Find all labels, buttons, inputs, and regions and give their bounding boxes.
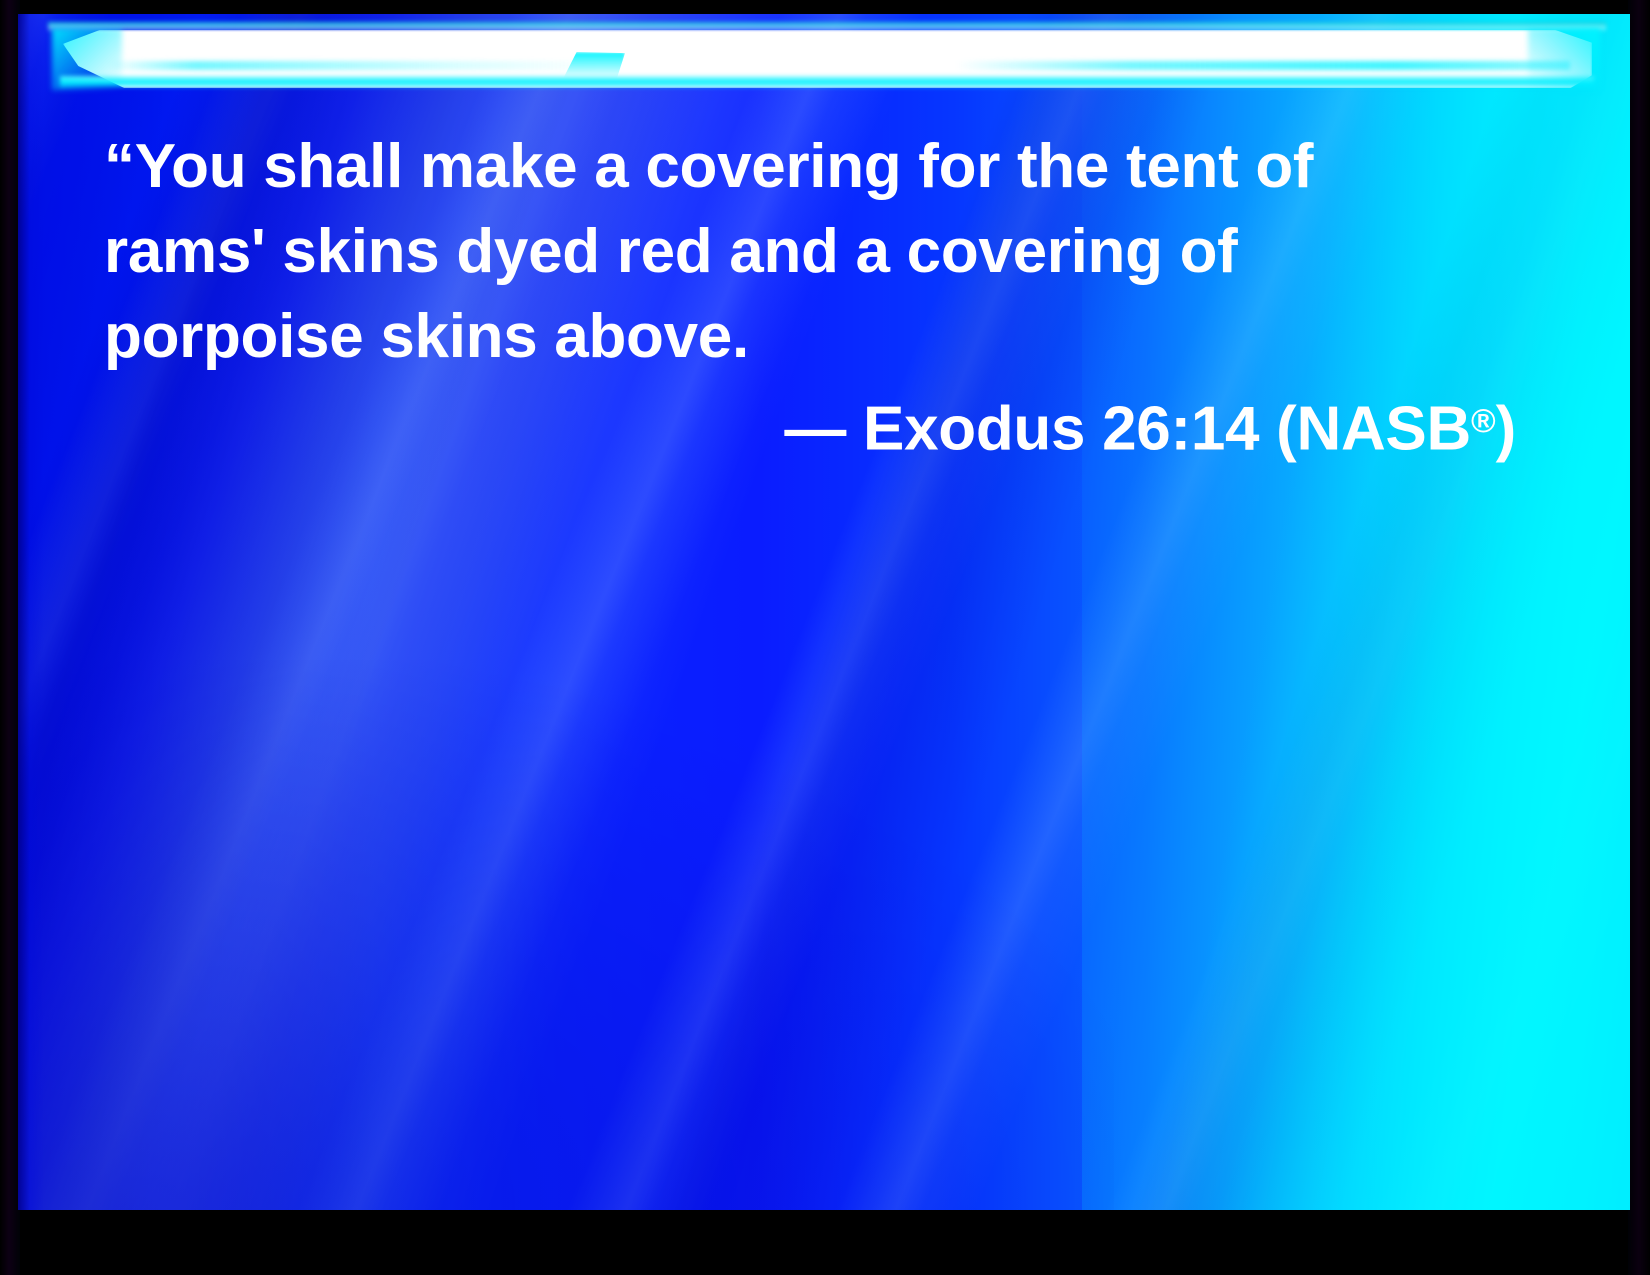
attribution-open-paren: (: [1276, 394, 1296, 463]
scripture-slide: “You shall make a covering for the tent …: [0, 0, 1650, 1275]
attribution-em-dash: —: [784, 394, 846, 463]
right-frame-edge: [1628, 0, 1650, 1275]
slide-background: “You shall make a covering for the tent …: [18, 14, 1630, 1210]
left-frame-edge: [0, 0, 20, 1275]
attribution-book: Exodus: [863, 394, 1085, 463]
attribution-spacer-1: [846, 394, 863, 463]
attribution-reference: 26:14: [1102, 394, 1259, 463]
verse-line-2: rams' skins dyed red and a covering of: [104, 209, 1524, 294]
attribution-spacer-3: [1259, 394, 1276, 463]
attribution-spacer-2: [1085, 394, 1102, 463]
left-edge-seam: [18, 14, 44, 1210]
verse-text-block: “You shall make a covering for the tent …: [104, 124, 1524, 472]
registered-trademark-icon: ®: [1471, 403, 1496, 440]
verse-line-3: porpoise skins above.: [104, 294, 1524, 379]
verse-attribution: — Exodus 26:14 (NASB®): [104, 379, 1524, 472]
attribution-translation: NASB: [1296, 394, 1470, 463]
verse-line-1: “You shall make a covering for the tent …: [104, 124, 1524, 209]
bottom-left-shade: [18, 660, 1114, 1210]
attribution-close-paren: ): [1496, 394, 1516, 463]
